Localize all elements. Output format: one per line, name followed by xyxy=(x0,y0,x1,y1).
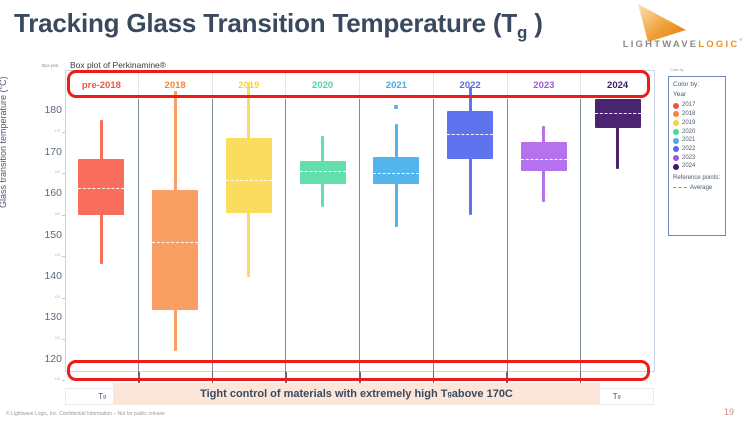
box xyxy=(373,157,419,184)
plot-body xyxy=(65,99,654,372)
box xyxy=(78,159,124,215)
median-line xyxy=(521,159,567,161)
median-line xyxy=(447,134,493,136)
median-line xyxy=(152,242,198,244)
page-title-tail: ) xyxy=(527,8,542,38)
year-label-2021: 2021 xyxy=(360,71,434,99)
y-minor-label-175: 175 xyxy=(55,129,60,133)
outlier-point xyxy=(394,105,398,109)
y-minor-label-135: 135 xyxy=(55,295,60,299)
legend-item-2020[interactable]: 2020 xyxy=(673,128,721,137)
legend-item-2023[interactable]: 2023 xyxy=(673,154,721,163)
legend-item-2017[interactable]: 2017 xyxy=(673,101,721,110)
boxplot-column-2018 xyxy=(139,99,213,372)
logo-trademark: ° xyxy=(739,39,744,45)
median-line xyxy=(78,188,124,190)
boxplot-column-2019 xyxy=(213,99,287,372)
boxplot-column-pre-2018 xyxy=(65,99,139,372)
callout-text-pre: Tight control of materials with extremel… xyxy=(200,388,447,400)
legend-reference-label: Reference points: xyxy=(673,174,721,183)
median-line xyxy=(226,180,272,182)
page-title: Tracking Glass Transition Temperature (T… xyxy=(14,8,543,43)
legend-color-swatch-icon xyxy=(673,164,679,170)
legend-panel: Color by: Year 2017201820192020202120222… xyxy=(668,76,726,236)
legend-color-swatch-icon xyxy=(673,120,679,126)
year-label-2020: 2020 xyxy=(286,71,360,99)
y-tick-label-130: 130 xyxy=(32,311,62,323)
legend-item-label: 2020 xyxy=(682,128,695,137)
y-tick-label-140: 140 xyxy=(32,270,62,282)
box xyxy=(152,190,198,310)
box xyxy=(226,138,272,212)
logo-wordmark-orange: LOGIC xyxy=(698,39,739,50)
legend-color-swatch-icon xyxy=(673,138,679,144)
legend-item-label: 2023 xyxy=(682,154,695,163)
legend-item-label: 2022 xyxy=(682,145,695,154)
median-line xyxy=(595,113,641,115)
year-label-2024: 2024 xyxy=(581,71,654,99)
median-line xyxy=(373,173,419,175)
y-tick-label-120: 120 xyxy=(32,353,62,365)
legend-item-2022[interactable]: 2022 xyxy=(673,145,721,154)
legend-color-by-label: Color by: xyxy=(673,80,721,90)
y-tick-label-170: 170 xyxy=(32,146,62,158)
legend-color-swatch-icon xyxy=(673,155,679,161)
year-label-pre-2018: pre-2018 xyxy=(65,71,139,99)
y-axis-title: Glass transition temperature (°C) xyxy=(0,76,8,208)
page-title-subscript: g xyxy=(517,23,527,42)
y-minor-label-125: 125 xyxy=(55,336,60,340)
logo-wordmark-grey: LIGHTWAVE xyxy=(623,39,699,50)
year-header-row: pre-20182018201920202021202220232024 xyxy=(65,71,654,99)
y-minor-label-145: 145 xyxy=(55,253,60,257)
dashed-line-icon xyxy=(673,187,687,188)
y-minor-label-165: 165 xyxy=(55,170,60,174)
y-tick-label-160: 160 xyxy=(32,187,62,199)
page-title-main: Tracking Glass Transition Temperature (T xyxy=(14,8,517,38)
legend-item-label: 2018 xyxy=(682,110,695,119)
footer-copyright: © Lightwave Logic, Inc. Confidential Inf… xyxy=(6,411,165,417)
year-label-2023: 2023 xyxy=(508,71,582,99)
legend-average-item: Average xyxy=(673,185,721,191)
legend-item-label: 2017 xyxy=(682,101,695,110)
chart-container: Box plot Box plot of Perkinamine® Glass … xyxy=(0,58,752,398)
y-minor-label-155: 155 xyxy=(55,212,60,216)
legend-tag: Color by xyxy=(670,68,683,72)
boxplot-column-2023 xyxy=(508,99,582,372)
legend-item-2018[interactable]: 2018 xyxy=(673,110,721,119)
tg-subscript: g xyxy=(103,394,106,400)
legend-color-swatch-icon xyxy=(673,111,679,117)
y-minor-label-115: 115 xyxy=(55,377,60,381)
legend-item-2024[interactable]: 2024 xyxy=(673,162,721,171)
boxplot-column-2021 xyxy=(360,99,434,372)
chart-title: Box plot of Perkinamine® xyxy=(70,60,166,70)
legend-color-swatch-icon xyxy=(673,103,679,109)
boxplot-column-2020 xyxy=(286,99,360,372)
legend-item-label: 2024 xyxy=(682,162,695,171)
median-line xyxy=(300,171,346,173)
legend-color-swatch-icon xyxy=(673,129,679,135)
legend-color-swatch-icon xyxy=(673,146,679,152)
boxplot-column-2024 xyxy=(581,99,654,372)
legend-item-label: 2021 xyxy=(682,136,695,145)
legend-field-label: Year xyxy=(673,90,721,100)
legend-average-label: Average xyxy=(690,185,712,191)
callout-text-post: above 170C xyxy=(452,388,513,400)
page-number: 19 xyxy=(724,407,734,417)
tg-subscript: g xyxy=(618,394,621,400)
logo-wordmark: LIGHTWAVELOGIC° xyxy=(623,39,744,50)
callout-banner: Tight control of materials with extremel… xyxy=(113,383,600,405)
legend-item-list: 20172018201920202021202220232024 xyxy=(673,101,721,171)
box xyxy=(521,142,567,171)
legend-item-label: 2019 xyxy=(682,119,695,128)
boxplot-column-2022 xyxy=(434,99,508,372)
y-tick-label-150: 150 xyxy=(32,229,62,241)
y-axis-ticks: 1201301401501601701801151251351451551651… xyxy=(28,58,62,398)
legend-item-2019[interactable]: 2019 xyxy=(673,119,721,128)
legend-item-2021[interactable]: 2021 xyxy=(673,136,721,145)
y-tick-label-180: 180 xyxy=(32,104,62,116)
